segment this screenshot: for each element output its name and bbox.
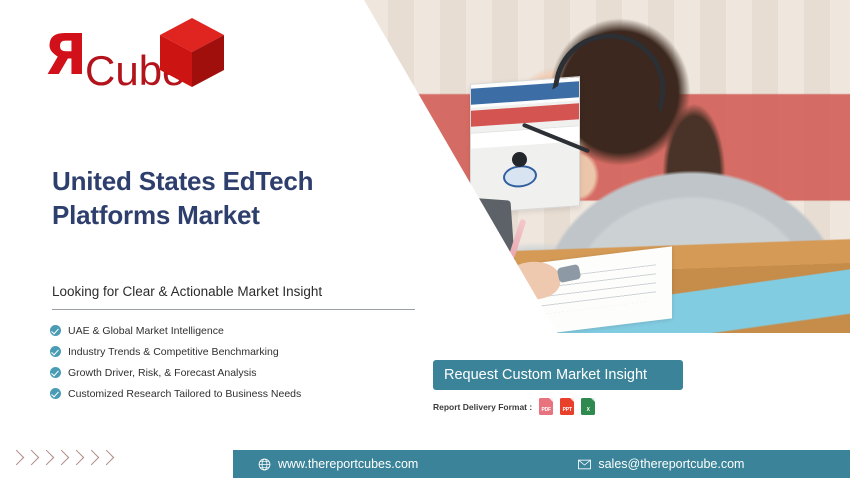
notebook-prop bbox=[482, 246, 672, 333]
check-circle-icon bbox=[50, 388, 61, 399]
chevron-right-icon bbox=[70, 448, 84, 472]
benefit-list: UAE & Global Market Intelligence Industr… bbox=[50, 322, 380, 406]
excel-file-icon-label: X bbox=[581, 407, 595, 413]
chevron-right-icon bbox=[25, 448, 39, 472]
hero-photo bbox=[362, 0, 850, 333]
list-item: UAE & Global Market Intelligence bbox=[50, 322, 380, 339]
list-item: Industry Trends & Competitive Benchmarki… bbox=[50, 343, 380, 360]
file-organizer-prop bbox=[470, 76, 580, 214]
globe-icon bbox=[258, 458, 271, 471]
headset-mic-tip bbox=[512, 152, 527, 167]
check-circle-icon bbox=[50, 325, 61, 336]
marketing-banner: Я Cube United States EdTech Platforms Ma… bbox=[0, 0, 850, 478]
report-delivery-format: Report Delivery Format : PDF PPT X bbox=[433, 398, 595, 415]
report-delivery-format-label: Report Delivery Format : bbox=[433, 402, 532, 412]
brand-logo[interactable]: Я Cube bbox=[40, 14, 270, 94]
chevron-right-icon bbox=[100, 448, 114, 472]
footer-website-link[interactable]: www.thereportcubes.com bbox=[258, 457, 418, 471]
pdf-file-icon-label: PDF bbox=[539, 407, 553, 413]
list-item: Growth Driver, Risk, & Forecast Analysis bbox=[50, 364, 380, 381]
list-item: Customized Research Tailored to Business… bbox=[50, 385, 380, 402]
footer-website-text: www.thereportcubes.com bbox=[278, 457, 418, 471]
chevron-decoration bbox=[10, 448, 114, 472]
organizer-tab-white bbox=[471, 125, 579, 149]
list-item-label: Industry Trends & Competitive Benchmarki… bbox=[68, 346, 279, 358]
page-title: United States EdTech Platforms Market bbox=[52, 164, 382, 233]
section-divider bbox=[52, 309, 415, 310]
list-item-label: UAE & Global Market Intelligence bbox=[68, 325, 224, 337]
request-custom-market-insight-button[interactable]: Request Custom Market Insight bbox=[433, 360, 683, 390]
footer-email-link[interactable]: sales@thereportcube.com bbox=[578, 457, 744, 471]
laptop-prop bbox=[371, 191, 517, 298]
chevron-right-icon bbox=[85, 448, 99, 472]
pdf-file-icon[interactable]: PDF bbox=[539, 398, 553, 415]
ppt-file-icon[interactable]: PPT bbox=[560, 398, 574, 415]
list-item-label: Customized Research Tailored to Business… bbox=[68, 388, 301, 400]
footer-contact-bar: www.thereportcubes.com sales@thereportcu… bbox=[233, 450, 850, 478]
hero-subtitle: Looking for Clear & Actionable Market In… bbox=[52, 284, 422, 299]
logo-letter-r: Я bbox=[44, 28, 87, 84]
chevron-right-icon bbox=[10, 448, 24, 472]
envelope-icon bbox=[578, 458, 591, 471]
footer-email-text: sales@thereportcube.com bbox=[598, 457, 744, 471]
excel-file-icon[interactable]: X bbox=[581, 398, 595, 415]
chevron-right-icon bbox=[40, 448, 54, 472]
check-circle-icon bbox=[50, 346, 61, 357]
student-with-headset-photo bbox=[362, 0, 850, 333]
list-item-label: Growth Driver, Risk, & Forecast Analysis bbox=[68, 367, 256, 379]
ppt-file-icon-label: PPT bbox=[560, 407, 574, 413]
red-3d-cube-icon bbox=[158, 16, 226, 90]
organizer-logo bbox=[503, 164, 537, 188]
chevron-right-icon bbox=[55, 448, 69, 472]
check-circle-icon bbox=[50, 367, 61, 378]
